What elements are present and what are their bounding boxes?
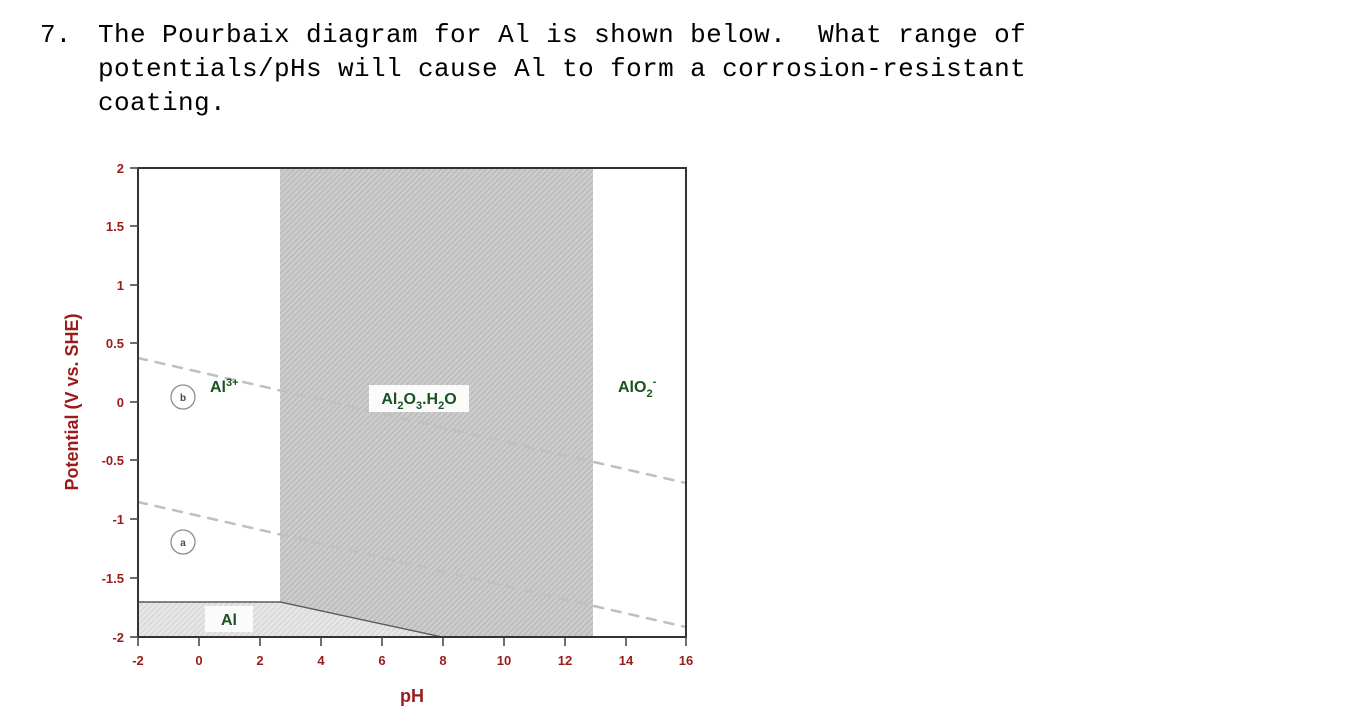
al2o3-end: O: [444, 391, 456, 408]
x-axis-title: pH: [400, 686, 424, 706]
x-tick-label-2: 2: [256, 653, 263, 668]
question-line-1: The Pourbaix diagram for Al is shown bel…: [98, 18, 1340, 52]
pourbaix-diagram: b a 2 1.5 1 0.5 0 -0.5 -1: [0, 140, 760, 720]
pourbaix-chart-svg: b a 2 1.5 1 0.5 0 -0.5 -1: [0, 140, 760, 720]
y-tick-label-1p5: 1.5: [106, 219, 124, 234]
y-tick-label-1: 1: [117, 278, 124, 293]
y-axis-ticks: [130, 168, 138, 637]
y-tick-label-m1p5: -1.5: [102, 571, 124, 586]
question-number: 7.: [40, 18, 98, 52]
x-tick-label-16: 16: [679, 653, 693, 668]
x-tick-label-4: 4: [317, 653, 325, 668]
x-tick-label-14: 14: [619, 653, 634, 668]
x-axis-tick-labels: -2 0 2 4 6 8 10 12 14 16: [132, 653, 693, 668]
al2o3-al: Al: [381, 391, 397, 408]
water-line-b-marker-label: b: [180, 393, 186, 404]
y-tick-label-2: 2: [117, 161, 124, 176]
phase-label-al-metal: Al: [205, 606, 253, 632]
question-row: 7. The Pourbaix diagram for Al is shown …: [40, 18, 1340, 120]
y-tick-label-m0p5: -0.5: [102, 453, 124, 468]
question-lines: The Pourbaix diagram for Al is shown bel…: [98, 18, 1340, 120]
al2o3-o: O: [403, 391, 415, 408]
question-block: 7. The Pourbaix diagram for Al is shown …: [40, 18, 1340, 120]
phase-label-al2o3h2o: Al2O3.H2O: [369, 385, 469, 412]
water-line-a-marker-label: a: [180, 538, 186, 549]
alo2-subscript: 2: [646, 388, 652, 400]
y-axis-title: Potential (V vs. SHE): [62, 313, 82, 490]
al3plus-base: Al: [210, 379, 226, 396]
phase-label-al-metal-text: Al: [221, 612, 237, 629]
question-line-2: potentials/pHs will cause Al to form a c…: [98, 52, 1340, 86]
al2o3-tail: .H: [422, 391, 438, 408]
y-axis-tick-labels: 2 1.5 1 0.5 0 -0.5 -1 -1.5 -2: [102, 161, 124, 645]
x-tick-label-m2: -2: [132, 653, 144, 668]
question-line-3: coating.: [98, 86, 1340, 120]
x-tick-label-8: 8: [439, 653, 446, 668]
y-tick-label-m2: -2: [112, 630, 124, 645]
x-tick-label-10: 10: [497, 653, 511, 668]
al3plus-superscript: 3+: [226, 377, 239, 389]
y-tick-label-0: 0: [117, 395, 124, 410]
x-tick-label-12: 12: [558, 653, 572, 668]
x-axis-ticks: [138, 637, 686, 646]
x-tick-label-0: 0: [195, 653, 202, 668]
alo2-superscript: -: [653, 376, 657, 388]
y-tick-label-m1: -1: [112, 512, 124, 527]
alo2-base: AlO: [618, 379, 646, 396]
y-tick-label-0p5: 0.5: [106, 336, 124, 351]
x-tick-label-6: 6: [378, 653, 385, 668]
